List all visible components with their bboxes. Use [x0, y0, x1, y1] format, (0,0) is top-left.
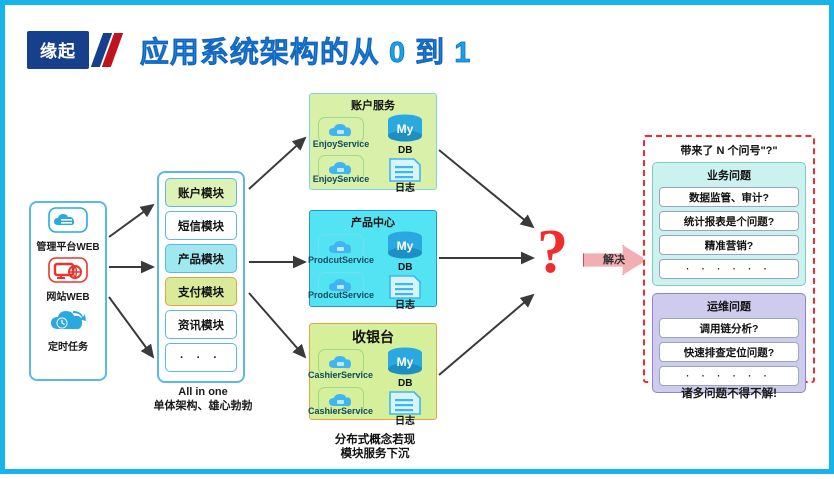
section-badge: 缘起	[27, 31, 89, 69]
solve-arrow: 解决	[583, 245, 645, 273]
problem-group-title-0: 业务问题	[659, 167, 799, 183]
service-box-product: 产品中心 ProdcutService ProdcutService My DB	[309, 210, 437, 307]
problem-item-label-0-0: 数据监管、审计?	[689, 190, 769, 205]
problem-item[interactable]: 精准营销?	[659, 235, 799, 255]
mysql-database-icon: My	[386, 347, 424, 382]
problem-item[interactable]: · · · · · ·	[659, 259, 799, 279]
service-title-1: 产品中心	[310, 211, 436, 230]
module-item-1[interactable]: 短信模块	[165, 211, 237, 240]
modules-group: 账户模块 短信模块 产品模块 支付模块 资讯模块 · · ·	[157, 171, 245, 383]
problem-group-title-1: 运维问题	[659, 298, 799, 314]
mysql-database-icon: My	[386, 114, 424, 149]
log-label-1: 日志	[395, 296, 415, 311]
module-label-5: · · ·	[180, 352, 222, 364]
problems-panel: 带来了 N 个问号"?" 业务问题 数据监管、审计? 统计报表是个问题? 精准营…	[643, 135, 815, 383]
module-label-4: 资讯模块	[178, 317, 224, 333]
problem-item-label-1-1: 快速排查定位问题?	[684, 345, 774, 360]
service-box-cashier: 收银台 CashierService CashierService My DB	[309, 323, 437, 420]
services-caption: 分布式概念若现 模块服务下沉	[290, 433, 460, 462]
slide-canvas: 缘起 应用系统架构的从 0 到 1	[0, 0, 834, 474]
service-node-label-1a: ProdcutService	[308, 256, 370, 265]
svg-text:My: My	[397, 239, 414, 253]
db-label-2: DB	[398, 378, 412, 389]
problem-item[interactable]: 调用链分析?	[659, 318, 799, 338]
problem-item-label-0-2: 精准营销?	[705, 238, 753, 253]
module-label-3: 支付模块	[178, 284, 224, 300]
problem-item[interactable]: 快速排查定位问题?	[659, 342, 799, 362]
monitor-globe-icon	[31, 253, 105, 287]
page-title: 应用系统架构的从 0 到 1	[140, 29, 471, 71]
problem-item-label-0-1: 统计报表是个问题?	[684, 214, 774, 229]
client-label-0: 管理平台WEB	[31, 238, 105, 253]
problems-caption: 诸多问题不得不解!	[643, 387, 815, 401]
module-label-2: 产品模块	[178, 251, 224, 267]
service-node-label-2b: CashierService	[308, 407, 370, 416]
client-item-0[interactable]: 管理平台WEB	[31, 203, 105, 253]
module-item-2[interactable]: 产品模块	[165, 244, 237, 273]
module-item-3[interactable]: 支付模块	[165, 277, 237, 306]
modules-caption: All in one 单体架构、雄心勃勃	[138, 386, 268, 414]
mysql-database-icon: My	[386, 231, 424, 266]
db-label-0: DB	[398, 145, 412, 156]
service-box-account: 账户服务 EnjoyService EnjoyService My DB	[309, 93, 437, 190]
problem-item-label-0-3: · · · · · ·	[686, 264, 772, 274]
client-label-1: 网站WEB	[31, 288, 105, 303]
problem-item-label-1-0: 调用链分析?	[700, 321, 759, 336]
module-label-1: 短信模块	[178, 218, 224, 234]
problem-item-label-1-2: · · · · · ·	[686, 371, 772, 381]
solve-arrow-label: 解决	[603, 251, 625, 267]
svg-text:My: My	[397, 122, 414, 136]
service-node-label-0b: EnjoyService	[310, 175, 372, 184]
client-item-1[interactable]: 网站WEB	[31, 253, 105, 303]
question-mark: ?	[537, 221, 568, 283]
problem-group-business: 业务问题 数据监管、审计? 统计报表是个问题? 精准营销? · · · · · …	[652, 162, 806, 286]
log-label-2: 日志	[395, 412, 415, 427]
service-title-0: 账户服务	[310, 94, 436, 113]
problems-panel-title: 带来了 N 个问号"?"	[652, 142, 806, 158]
slide-header: 缘起 应用系统架构的从 0 到 1	[27, 29, 471, 71]
cloud-server-icon	[31, 203, 105, 237]
service-node-label-1b: ProdcutService	[308, 291, 370, 300]
clients-group: 管理平台WEB 网站WEB	[29, 201, 107, 381]
module-label-0: 账户模块	[178, 185, 224, 201]
services-caption-line1: 分布式概念若现	[290, 433, 460, 447]
cloud-clock-icon	[31, 303, 105, 337]
module-item-5[interactable]: · · ·	[165, 343, 237, 372]
service-node-label-0a: EnjoyService	[310, 140, 372, 149]
client-label-2: 定时任务	[31, 338, 105, 353]
client-item-2[interactable]: 定时任务	[31, 303, 105, 353]
service-node-label-2a: CashierService	[308, 371, 370, 380]
problem-item[interactable]: 统计报表是个问题?	[659, 211, 799, 231]
modules-caption-line2: 单体架构、雄心勃勃	[138, 400, 268, 414]
log-label-0: 日志	[395, 179, 415, 194]
module-item-0[interactable]: 账户模块	[165, 178, 237, 207]
problem-item[interactable]: 数据监管、审计?	[659, 187, 799, 207]
modules-caption-line1: All in one	[138, 386, 268, 400]
module-item-4[interactable]: 资讯模块	[165, 310, 237, 339]
slash-decoration-icon	[95, 33, 121, 67]
service-title-2: 收银台	[310, 324, 436, 347]
svg-text:My: My	[397, 355, 414, 369]
problem-item[interactable]: · · · · · ·	[659, 366, 799, 386]
services-caption-line2: 模块服务下沉	[290, 447, 460, 461]
problem-group-ops: 运维问题 调用链分析? 快速排查定位问题? · · · · · ·	[652, 293, 806, 393]
db-label-1: DB	[398, 262, 412, 273]
